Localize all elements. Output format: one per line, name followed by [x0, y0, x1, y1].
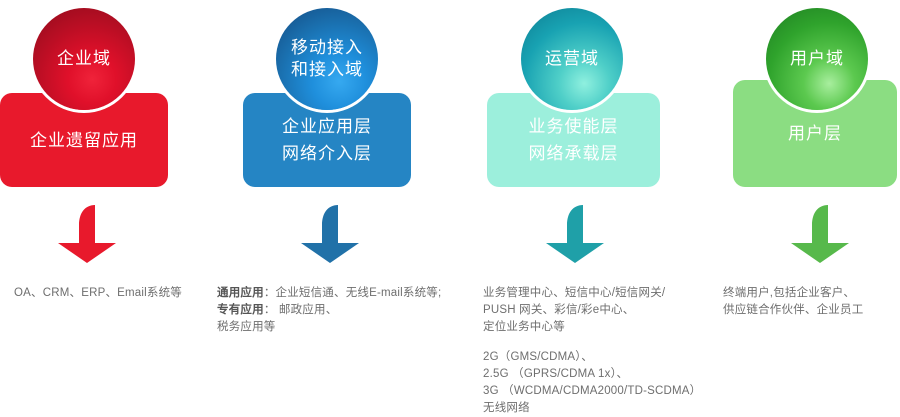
caption-mobile-access-domain: 通用应用：企业短信通、无线E-mail系统等; 专有应用： 邮政应用、 税务应用…	[217, 285, 477, 336]
column-enterprise-domain: 企业遗留应用 企业域 OA、CRM、ERP、Email系统等	[0, 0, 225, 404]
arrow-down-mobile-access-domain	[295, 203, 365, 265]
bubble-label: 和接入域	[291, 59, 363, 81]
column-mobile-access-domain: 企业应用层 网络介入层 移动接入 和接入域 通用应用：企业短信通、无线E-mai…	[225, 0, 450, 404]
diagram-canvas: 企业遗留应用 企业域 OA、CRM、ERP、Email系统等 企业应用层 网络介…	[0, 0, 900, 404]
bubble-label: 企业域	[57, 48, 111, 70]
arrow-down-user-domain	[785, 203, 855, 265]
column-user-domain: 用户层 用户域 终端用户,包括企业客户、 供应链合作伙伴、企业员工	[675, 0, 900, 404]
bubble-user-domain[interactable]: 用户域	[766, 8, 868, 110]
layer-label: 企业应用层	[282, 113, 372, 140]
layer-label: 网络承载层	[529, 140, 619, 167]
caption-line: 通用应用：企业短信通、无线E-mail系统等;	[217, 285, 477, 302]
layer-label: 用户层	[788, 120, 842, 147]
layer-label: 网络介入层	[282, 140, 372, 167]
arrow-down-enterprise-domain	[52, 203, 122, 265]
caption-line: 供应链合作伙伴、企业员工	[723, 302, 900, 319]
caption-line: OA、CRM、ERP、Email系统等	[14, 285, 224, 302]
caption-enterprise-domain: OA、CRM、ERP、Email系统等	[14, 285, 224, 302]
caption-line: 税务应用等	[217, 319, 477, 336]
layer-label: 业务使能层	[529, 113, 619, 140]
bubble-operation-domain[interactable]: 运营域	[521, 8, 623, 110]
column-operation-domain: 业务使能层 网络承载层 运营域 业务管理中心、短信中心/短信网关/ PUSH 网…	[450, 0, 675, 404]
bubble-label: 移动接入	[291, 37, 363, 59]
layer-label: 企业遗留应用	[30, 127, 138, 154]
bubble-label: 用户域	[790, 48, 844, 70]
arrow-down-operation-domain	[540, 203, 610, 265]
bubble-mobile-access-domain[interactable]: 移动接入 和接入域	[276, 8, 378, 110]
bubble-label: 运营域	[545, 48, 599, 70]
caption-user-domain: 终端用户,包括企业客户、 供应链合作伙伴、企业员工	[723, 285, 900, 319]
caption-line: 终端用户,包括企业客户、	[723, 285, 900, 302]
bubble-enterprise-domain[interactable]: 企业域	[33, 8, 135, 110]
caption-line: 专有应用： 邮政应用、	[217, 302, 477, 319]
